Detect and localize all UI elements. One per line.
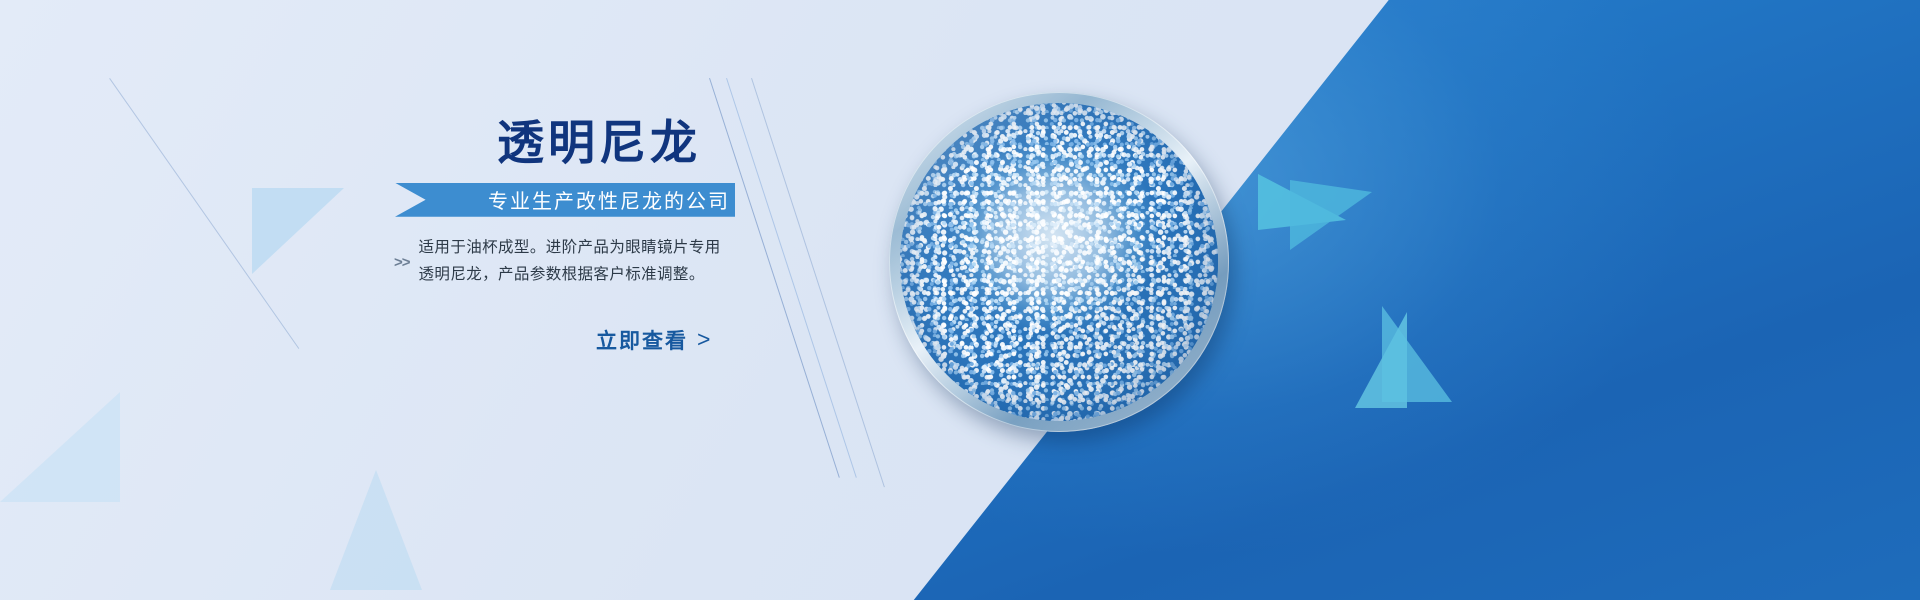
decor-triangle-right-upper-b	[1290, 180, 1372, 250]
decor-triangle-left-upper	[252, 188, 344, 274]
description-line-2: 透明尼龙，产品参数根据客户标准调整。	[419, 261, 721, 289]
product-image-nylon-pellets	[889, 92, 1229, 432]
decor-triangle-right-lower-b	[1382, 306, 1452, 402]
chevron-right-icon: >	[697, 328, 712, 351]
nylon-pellet-vignette	[900, 103, 1218, 421]
view-now-button[interactable]: 立即查看 >	[386, 325, 712, 355]
banner-text-block: 透明尼龙 专业生产改性尼龙的公司 >> 适用于油杯成型。进阶产品为眼睛镜片专用 …	[386, 118, 806, 355]
double-chevron-icon: >>	[394, 254, 410, 271]
decor-triangle-left-lower	[330, 470, 422, 590]
promo-banner: 透明尼龙 专业生产改性尼龙的公司 >> 适用于油杯成型。进阶产品为眼睛镜片专用 …	[0, 0, 1920, 600]
description-text: 适用于油杯成型。进阶产品为眼睛镜片专用 透明尼龙，产品参数根据客户标准调整。	[419, 234, 721, 289]
description-line-1: 适用于油杯成型。进阶产品为眼睛镜片专用	[419, 234, 721, 262]
view-now-label: 立即查看	[596, 325, 688, 355]
subtitle-ribbon: 专业生产改性尼龙的公司	[386, 183, 806, 217]
banner-title: 透明尼龙	[386, 118, 806, 169]
ribbon-label: 专业生产改性尼龙的公司	[462, 185, 730, 214]
decor-triangle-left-edge	[0, 392, 120, 502]
description-row: >> 适用于油杯成型。进阶产品为眼睛镜片专用 透明尼龙，产品参数根据客户标准调整…	[386, 234, 806, 289]
dish-interior	[900, 103, 1218, 421]
